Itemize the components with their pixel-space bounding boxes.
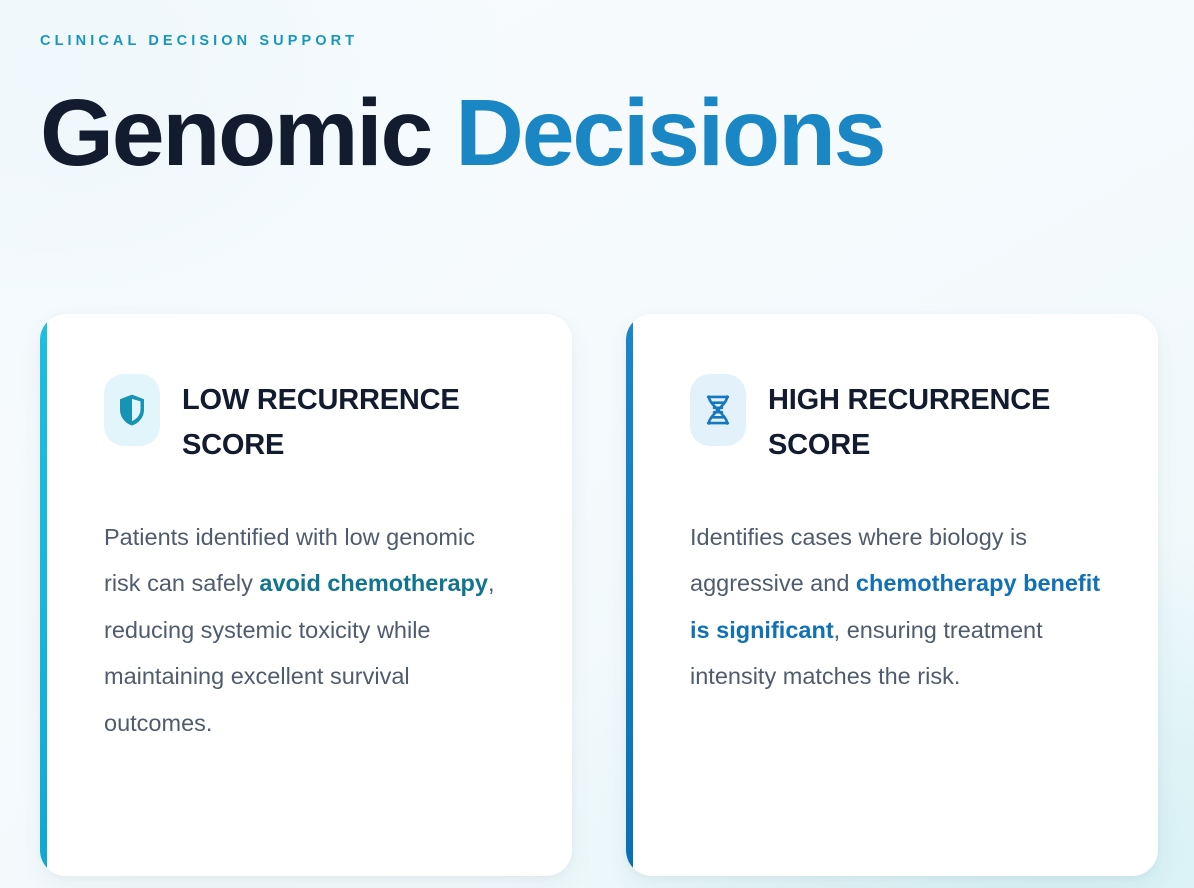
page-title-word-genomic: Genomic — [40, 80, 431, 186]
shield-icon — [117, 393, 147, 427]
card-high-recurrence-score[interactable]: HIGH RECURRENCE SCORE Identifies cases w… — [626, 314, 1158, 876]
dna-icon — [703, 394, 733, 426]
card-title-low: LOW RECURRENCE SCORE — [182, 374, 512, 468]
card-grid: LOW RECURRENCE SCORE Patients identified… — [40, 314, 1158, 876]
card-header-high: HIGH RECURRENCE SCORE — [690, 374, 1116, 468]
card-header-low: LOW RECURRENCE SCORE — [104, 374, 530, 468]
page-title-word-decisions: Decisions — [455, 80, 884, 186]
icon-tile-low — [104, 374, 160, 446]
page-root: CLINICAL DECISION SUPPORT Genomic Decisi… — [0, 0, 1194, 888]
card-accent-bar-high — [626, 314, 633, 876]
icon-tile-high — [690, 374, 746, 446]
card-accent-bar-low — [40, 314, 47, 876]
eyebrow-label: CLINICAL DECISION SUPPORT — [40, 33, 358, 49]
card-body-low-highlight: avoid chemotherapy — [259, 570, 488, 596]
card-body-low: Patients identified with low genomic ris… — [104, 514, 516, 747]
card-title-high: HIGH RECURRENCE SCORE — [768, 374, 1098, 468]
card-body-high: Identifies cases where biology is aggres… — [690, 514, 1102, 700]
page-title: Genomic Decisions — [40, 84, 884, 184]
card-low-recurrence-score[interactable]: LOW RECURRENCE SCORE Patients identified… — [40, 314, 572, 876]
